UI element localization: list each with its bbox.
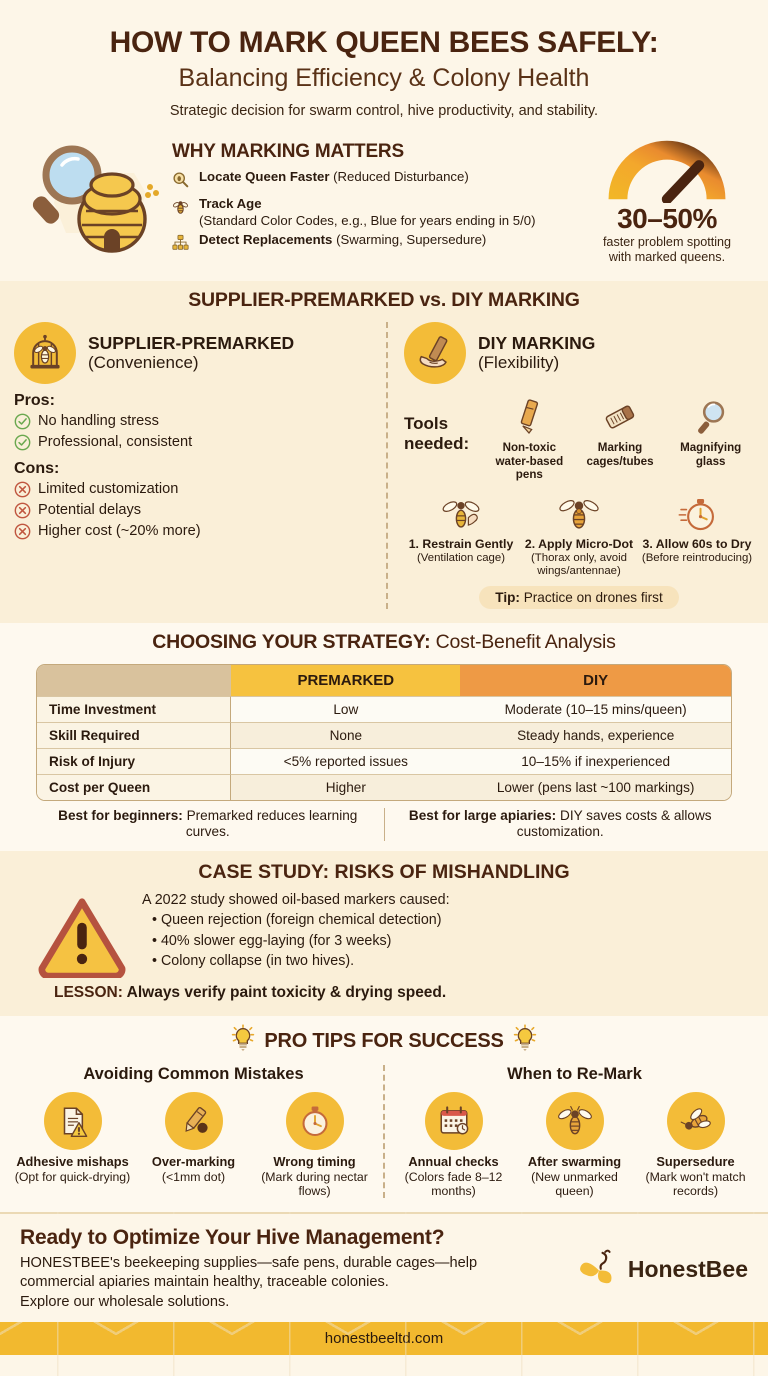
check-circle-icon (14, 413, 31, 430)
con-item: Limited customization (14, 480, 372, 499)
remark-sub: (Mark won't match records) (637, 1170, 754, 1198)
tip-item: Wrong timing (Mark during nectar flows) (256, 1092, 373, 1198)
best-right-label: Best for large apiaries: (409, 808, 556, 823)
compare-section: SUPPLIER-PREMARKED vs. DIY MARKING (0, 281, 768, 622)
remark-sub: (Colors fade 8–12 months) (395, 1170, 512, 1198)
pro-text: No handling stress (38, 412, 159, 431)
tools-label: Tools needed: (404, 392, 482, 453)
compare-columns: SUPPLIER-PREMARKED (Convenience) Pros: N… (14, 322, 754, 608)
magnifier-bee-icon (172, 169, 192, 193)
infographic-page: HOW TO MARK QUEEN BEES SAFELY: Balancing… (0, 0, 768, 1376)
when-to-remark-heading: When to Re-Mark (395, 1065, 754, 1084)
stat-block: 30–50% faster problem spottingwith marke… (582, 133, 752, 265)
tool-item: Non-toxic water-based pens (486, 392, 573, 481)
bee-side-icon (667, 1092, 725, 1150)
marking-tube-icon (577, 392, 664, 438)
page-subtitle: Balancing Efficiency & Colony Health (20, 63, 748, 94)
strategy-heading: CHOOSING YOUR STRATEGY: Cost-Benefit Ana… (36, 631, 732, 654)
table-cell-premarked: None (231, 722, 460, 748)
table-row: Risk of Injury <5% reported issues 10–15… (37, 748, 731, 774)
remark-title: Annual checks (395, 1155, 512, 1170)
premarked-title: SUPPLIER-PREMARKED (88, 334, 294, 353)
why-item-text: Detect Replacements (Swarming, Supersedu… (199, 232, 486, 249)
brand-block: HonestBee (568, 1244, 748, 1295)
remark-title: Supersedure (637, 1155, 754, 1170)
diy-subtitle: (Flexibility) (478, 353, 595, 373)
avoiding-mistakes-column: Avoiding Common Mistakes (14, 1065, 385, 1198)
table-col-premarked: PREMARKED (231, 665, 460, 696)
best-left-label: Best for beginners: (58, 808, 183, 823)
honestbee-logo-icon (576, 1244, 622, 1295)
stopwatch-icon (286, 1092, 344, 1150)
remark-item: Supersedure (Mark won't match records) (637, 1092, 754, 1198)
cost-benefit-table: PREMARKED DIY Time Investment Low Modera… (36, 664, 732, 801)
why-item: Locate Queen Faster (Reduced Disturbance… (172, 169, 576, 193)
best-for-large-apiaries: Best for large apiaries: DIY saves costs… (385, 808, 725, 841)
table-cell-diy: Lower (pens last ~100 markings) (460, 774, 731, 800)
check-circle-icon (14, 434, 31, 451)
page-title: HOW TO MARK QUEEN BEES SAFELY: (20, 26, 748, 59)
marked-bee-icon (522, 489, 636, 535)
why-item-text: Track Age (Standard Color Codes, e.g., B… (199, 196, 535, 229)
con-text: Higher cost (~20% more) (38, 522, 201, 541)
case-text: A 2022 study showed oil-based markers ca… (142, 890, 750, 971)
cta-text: Ready to Optimize Your Hive Management? … (20, 1226, 558, 1312)
con-item: Higher cost (~20% more) (14, 522, 372, 541)
strategy-section: CHOOSING YOUR STRATEGY: Cost-Benefit Ana… (0, 623, 768, 851)
why-item-text: Locate Queen Faster (Reduced Disturbance… (199, 169, 469, 186)
table-cell-diy: 10–15% if inexperienced (460, 748, 731, 774)
table-row: Cost per Queen Higher Lower (pens last ~… (37, 774, 731, 800)
premarked-subtitle: (Convenience) (88, 353, 294, 373)
table-cell-diy: Steady hands, experience (460, 722, 731, 748)
diy-title: DIY MARKING (478, 334, 595, 353)
tip-title: Wrong timing (256, 1155, 373, 1170)
case-study-section: CASE STUDY: RISKS OF MISHANDLING A 2022 … (0, 851, 768, 1016)
step-sub: (Ventilation cage) (404, 552, 518, 565)
bee-icon (546, 1092, 604, 1150)
hand-pen-icon (404, 322, 466, 384)
diy-header: DIY MARKING (Flexibility) (404, 322, 754, 384)
lightbulb-icon (512, 1024, 538, 1059)
stat-caption: faster problem spottingwith marked queen… (582, 235, 752, 265)
remark-item: Annual checks (Colors fade 8–12 months) (395, 1092, 512, 1198)
x-circle-icon (14, 502, 31, 519)
step-sub: (Before reintroducing) (640, 552, 754, 565)
tool-label: Marking cages/tubes (577, 441, 664, 468)
tools-row: Tools needed: Non-toxic water-based pens (404, 392, 754, 481)
remark-title: After swarming (516, 1155, 633, 1170)
queen-cage-icon (14, 322, 76, 384)
tool-item: Magnifying glass (667, 392, 754, 468)
bee-icon (172, 196, 192, 220)
tip-item: Adhesive mishaps (Opt for quick-drying) (14, 1092, 131, 1198)
con-text: Limited customization (38, 480, 178, 499)
table-cell-key: Cost per Queen (37, 774, 231, 800)
tip-sub: (Mark during nectar flows) (256, 1170, 373, 1198)
pro-tips-heading-row: PRO TIPS FOR SUCCESS (14, 1024, 754, 1059)
stopwatch-icon (640, 489, 754, 535)
pro-tips-columns: Avoiding Common Mistakes (14, 1065, 754, 1198)
magnifier-hive-illustration (16, 133, 166, 253)
table-cell-diy: Moderate (10–15 mins/queen) (460, 696, 731, 722)
diy-column: DIY MARKING (Flexibility) Tools needed: (386, 322, 754, 608)
best-left-text: Premarked reduces learning curves. (183, 808, 358, 840)
steps-row: 1. Restrain Gently (Ventilation cage) (404, 489, 754, 577)
table-cell-premarked: <5% reported issues (231, 748, 460, 774)
document-warning-icon (44, 1092, 102, 1150)
why-heading: WHY MARKING MATTERS (172, 141, 576, 163)
table-row: Time Investment Low Moderate (10–15 mins… (37, 696, 731, 722)
why-item: Detect Replacements (Swarming, Supersedu… (172, 232, 576, 256)
why-marking-matters-section: WHY MARKING MATTERS Locate Queen Faster … (0, 125, 768, 281)
case-body: A 2022 study showed oil-based markers ca… (18, 890, 750, 978)
brand-name: HonestBee (628, 1256, 748, 1283)
table-cell-premarked: Low (231, 696, 460, 722)
pro-item: No handling stress (14, 412, 372, 431)
pro-item: Professional, consistent (14, 433, 372, 452)
stat-value: 30–50% (582, 205, 752, 233)
x-circle-icon (14, 481, 31, 498)
case-intro: A 2022 study showed oil-based markers ca… (142, 890, 750, 910)
cta-heading: Ready to Optimize Your Hive Management? (20, 1226, 558, 1250)
lesson-label: LESSON: (54, 984, 123, 1001)
step-title: 3. Allow 60s to Dry (640, 537, 754, 551)
case-lesson: LESSON: Always verify paint toxicity & d… (18, 984, 750, 1002)
step-title: 2. Apply Micro-Dot (522, 537, 636, 551)
tip-title: Over-marking (135, 1155, 252, 1170)
tool-item: Marking cages/tubes (577, 392, 664, 468)
when-to-remark-grid: Annual checks (Colors fade 8–12 months) (395, 1092, 754, 1198)
hierarchy-icon (172, 232, 192, 256)
avoiding-mistakes-heading: Avoiding Common Mistakes (14, 1065, 373, 1084)
tool-label: Non-toxic water-based pens (486, 441, 573, 481)
case-bullet: • Colony collapse (in two hives). (142, 951, 750, 971)
remark-sub: (New unmarked queen) (516, 1170, 633, 1198)
tip-sub: (<1mm dot) (135, 1170, 252, 1184)
tip-sub: (Opt for quick-drying) (14, 1170, 131, 1184)
hand-holding-bee-icon (404, 489, 518, 535)
magnifying-glass-icon (667, 392, 754, 438)
tip-text: Practice on drones first (520, 590, 663, 605)
case-heading: CASE STUDY: RISKS OF MISHANDLING (18, 861, 750, 884)
why-list: Locate Queen Faster (Reduced Disturbance… (172, 169, 576, 256)
remark-item: After swarming (New unmarked queen) (516, 1092, 633, 1198)
best-for-beginners: Best for beginners: Premarked reduces le… (44, 808, 385, 841)
lesson-text: Always verify paint toxicity & drying sp… (123, 984, 446, 1001)
why-item: Track Age (Standard Color Codes, e.g., B… (172, 196, 576, 229)
header-section: HOW TO MARK QUEEN BEES SAFELY: Balancing… (0, 0, 768, 125)
con-item: Potential delays (14, 501, 372, 520)
warning-triangle-icon (34, 890, 130, 978)
step-sub: (Thorax only, avoid wings/antennae) (522, 552, 636, 578)
table-col-diy: DIY (460, 665, 731, 696)
pros-label: Pros: (14, 392, 372, 410)
step-item: 2. Apply Micro-Dot (Thorax only, avoid w… (522, 489, 636, 577)
cta-section: Ready to Optimize Your Hive Management? … (0, 1214, 768, 1322)
diy-titles: DIY MARKING (Flexibility) (478, 334, 595, 373)
gauge-icon (603, 137, 731, 203)
x-circle-icon (14, 523, 31, 540)
cta-body: HONESTBEE's beekeeping supplies—safe pen… (20, 1254, 558, 1312)
step-item: 1. Restrain Gently (Ventilation cage) (404, 489, 518, 577)
premarked-column: SUPPLIER-PREMARKED (Convenience) Pros: N… (14, 322, 386, 608)
tip-wrap: Tip: Practice on drones first (404, 578, 754, 609)
pen-icon (486, 392, 573, 438)
premarked-header: SUPPLIER-PREMARKED (Convenience) (14, 322, 372, 384)
pro-text: Professional, consistent (38, 433, 192, 452)
pen-dot-icon (165, 1092, 223, 1150)
why-marking-content: WHY MARKING MATTERS Locate Queen Faster … (172, 133, 576, 259)
tip-label: Tip: (495, 590, 520, 605)
table-header-row: PREMARKED DIY (37, 665, 731, 696)
table-row: Skill Required None Steady hands, experi… (37, 722, 731, 748)
table-cell-key: Risk of Injury (37, 748, 231, 774)
con-text: Potential delays (38, 501, 141, 520)
pro-tips-section: PRO TIPS FOR SUCCESS (0, 1016, 768, 1212)
case-bullet: • Queen rejection (foreign chemical dete… (142, 910, 750, 930)
tip-title: Adhesive mishaps (14, 1155, 131, 1170)
cons-label: Cons: (14, 460, 372, 478)
table-cell-premarked: Higher (231, 774, 460, 800)
table-cell-key: Skill Required (37, 722, 231, 748)
table-col-blank (37, 665, 231, 696)
premarked-titles: SUPPLIER-PREMARKED (Convenience) (88, 334, 294, 373)
pro-tips-title: PRO TIPS FOR SUCCESS (264, 1030, 503, 1053)
tool-label: Magnifying glass (667, 441, 754, 468)
step-item: 3. Allow 60s to Dry (Before reintroducin… (640, 489, 754, 577)
tip-banner: Tip: Practice on drones first (479, 586, 678, 609)
case-bullets: • Queen rejection (foreign chemical dete… (142, 910, 750, 971)
best-for-row: Best for beginners: Premarked reduces le… (36, 808, 732, 841)
calendar-clock-icon (425, 1092, 483, 1150)
page-tagline: Strategic decision for swarm control, hi… (20, 103, 748, 119)
compare-heading: SUPPLIER-PREMARKED vs. DIY MARKING (14, 289, 754, 312)
step-title: 1. Restrain Gently (404, 537, 518, 551)
when-to-remark-column: When to Re-Mark (385, 1065, 754, 1198)
tip-item: Over-marking (<1mm dot) (135, 1092, 252, 1198)
avoiding-mistakes-grid: Adhesive mishaps (Opt for quick-drying) (14, 1092, 373, 1198)
lightbulb-icon (230, 1024, 256, 1059)
case-bullet: • 40% slower egg-laying (for 3 weeks) (142, 931, 750, 951)
table-cell-key: Time Investment (37, 696, 231, 722)
